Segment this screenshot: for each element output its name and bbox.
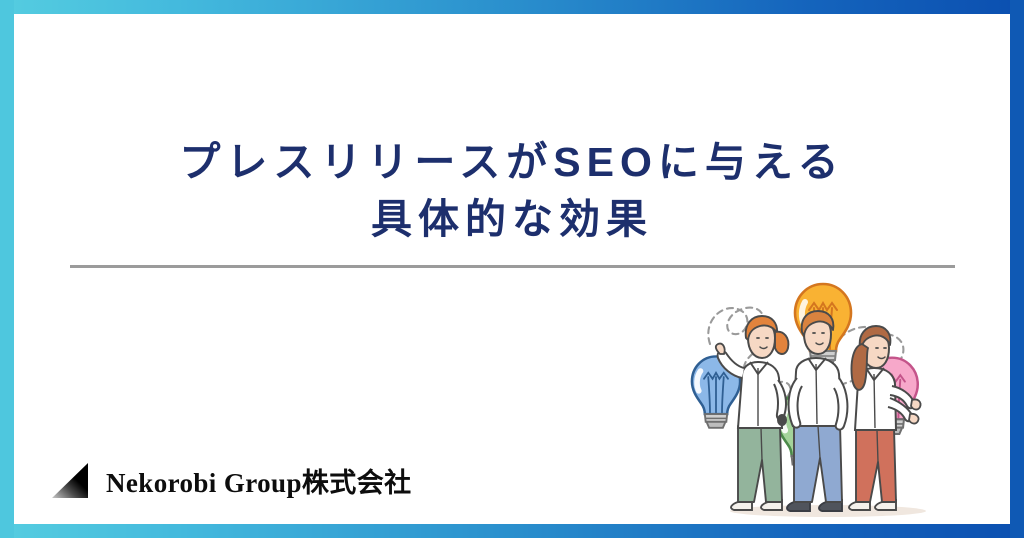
page-title-line-2: 具体的な効果	[0, 191, 1024, 248]
brand-logo: Nekorobi Group株式会社	[50, 460, 412, 500]
page-title-line-1: プレスリリースがSEOに与える	[0, 134, 1024, 191]
frame-border-left	[0, 0, 14, 538]
people-with-lightbulbs-illustration	[676, 268, 968, 520]
brand-logo-text: Nekorobi Group株式会社	[106, 461, 412, 500]
triangle-mark-icon	[50, 460, 92, 500]
frame-border-bottom	[0, 524, 1024, 538]
frame-border-top	[0, 0, 1024, 14]
slide-canvas: プレスリリースがSEOに与える 具体的な効果 Nekorobi Group株式会…	[0, 0, 1024, 538]
frame-border-right	[1010, 0, 1024, 538]
person-right	[849, 326, 920, 510]
page-title: プレスリリースがSEOに与える 具体的な効果	[0, 134, 1024, 248]
